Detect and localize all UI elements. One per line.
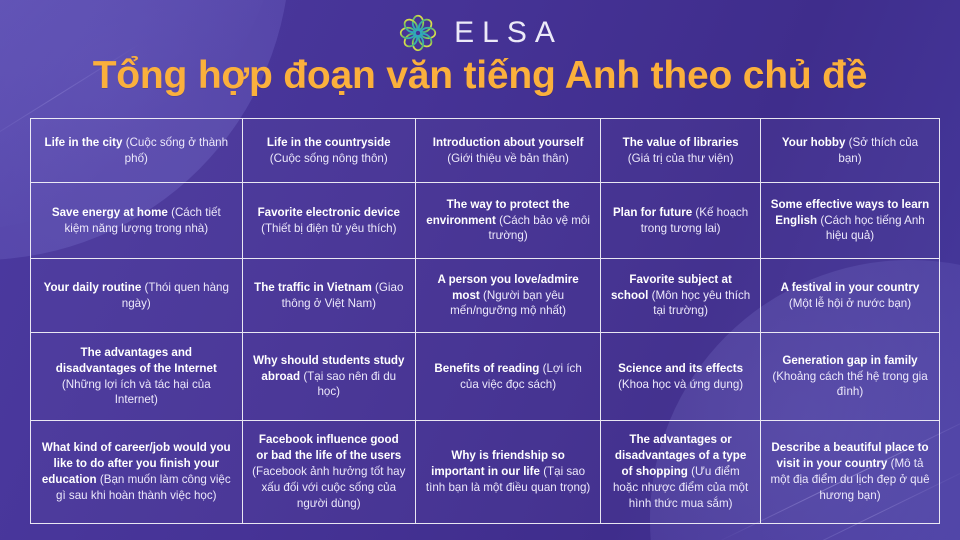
topic-en: Save energy at home [52,206,168,219]
topic-cell[interactable]: Describe a beautiful place to visit in y… [761,421,939,523]
topic-vi: (Khoa học và ứng dụng) [618,378,743,391]
topic-cell[interactable]: Why is friendship so important in our li… [416,421,601,523]
topic-cell[interactable]: A person you love/admire most (Người bạn… [416,259,601,333]
table-row: Your daily routine (Thói quen hàng ngày)… [31,259,939,333]
topic-vi: (Thiết bị điện tử yêu thích) [261,222,396,235]
topic-cell[interactable]: The traffic in Vietnam (Giao thông ở Việ… [243,259,416,333]
topic-cell[interactable]: Science and its effects (Khoa học và ứng… [601,333,761,421]
topic-en: Plan for future [613,206,692,219]
elsa-flower-icon [397,12,439,54]
topic-cell[interactable]: Facebook influence good or bad the life … [243,421,416,523]
topic-cell[interactable]: Benefits of reading (Lợi ích của việc đọ… [416,333,601,421]
topic-cell[interactable]: The value of libraries (Giá trị của thư … [601,119,761,183]
topic-en: Introduction about yourself [433,136,584,149]
topics-table-body: Life in the city (Cuộc sống ở thành phố)… [31,119,939,523]
table-row: What kind of career/job would you like t… [31,421,939,523]
topic-cell[interactable]: The advantages and disadvantages of the … [31,333,243,421]
topic-cell[interactable]: Life in the city (Cuộc sống ở thành phố) [31,119,243,183]
topic-en: Life in the countryside [267,136,391,149]
topic-vi: (Một lễ hội ở nước bạn) [789,297,911,310]
topic-vi: (Tại sao nên đi du học) [303,370,396,399]
topic-cell[interactable]: What kind of career/job would you like t… [31,421,243,523]
topic-cell[interactable]: Your hobby (Sở thích của bạn) [761,119,939,183]
topic-cell[interactable]: Your daily routine (Thói quen hàng ngày) [31,259,243,333]
topic-vi: (Facebook ảnh hưởng tốt hay xấu đối với … [252,465,405,510]
topic-cell[interactable]: Favorite electronic device (Thiết bị điệ… [243,183,416,259]
topic-cell[interactable]: Generation gap in family (Khoảng cách th… [761,333,939,421]
topic-en: A festival in your country [781,281,920,294]
brand-logo-bar: ELSA [0,10,960,56]
topic-en: Science and its effects [618,362,743,375]
page-title: Tổng hợp đoạn văn tiếng Anh theo chủ đề [0,54,960,98]
topic-vi: (Cuộc sống ở thành phố) [125,136,228,165]
topic-cell[interactable]: Save energy at home (Cách tiết kiệm năng… [31,183,243,259]
topic-cell[interactable]: Favorite subject at school (Môn học yêu … [601,259,761,333]
brand-name: ELSA [451,18,563,48]
topic-vi: (Khoảng cách thế hệ trong gia đình) [772,370,927,399]
topic-en: The advantages and disadvantages of the … [56,346,217,375]
topic-en: Your daily routine [44,281,142,294]
topic-cell[interactable]: Why should students study abroad (Tại sa… [243,333,416,421]
topic-vi: (Cách bảo vệ môi trường) [488,214,589,243]
topic-en: Favorite electronic device [258,206,400,219]
table-row: The advantages and disadvantages of the … [31,333,939,421]
topic-en: Benefits of reading [434,362,539,375]
table-row: Save energy at home (Cách tiết kiệm năng… [31,183,939,259]
topic-cell[interactable]: Some effective ways to learn English (Cá… [761,183,939,259]
topic-vi: (Cách học tiếng Anh hiệu quả) [820,214,924,243]
topic-cell[interactable]: A festival in your country (Một lễ hội ở… [761,259,939,333]
topic-cell[interactable]: The way to protect the environment (Cách… [416,183,601,259]
topic-vi: (Sở thích của bạn) [838,136,918,165]
topic-vi: (Cuộc sống nông thôn) [270,152,388,165]
table-row: Life in the city (Cuộc sống ở thành phố)… [31,119,939,183]
topic-en: Life in the city [45,136,123,149]
topic-vi: (Môn học yêu thích tại trường) [652,289,751,318]
topic-en: Generation gap in family [782,354,917,367]
topic-vi: (Những lợi ích và tác hại của Internet) [62,378,211,407]
topic-vi: (Giới thiệu về bản thân) [447,152,569,165]
topic-cell[interactable]: Introduction about yourself (Giới thiệu … [416,119,601,183]
topic-en: Facebook influence good or bad the life … [256,433,401,462]
topic-en: Your hobby [782,136,846,149]
topics-table: Life in the city (Cuộc sống ở thành phố)… [30,118,940,524]
topic-en: The value of libraries [623,136,739,149]
topic-cell[interactable]: Life in the countryside (Cuộc sống nông … [243,119,416,183]
topic-en: The traffic in Vietnam [254,281,372,294]
topic-cell[interactable]: The advantages or disadvantages of a typ… [601,421,761,523]
topic-vi: (Giá trị của thư viện) [628,152,734,165]
slide-canvas: ELSA Tổng hợp đoạn văn tiếng Anh theo ch… [0,0,960,540]
topic-cell[interactable]: Plan for future (Kế hoạch trong tương la… [601,183,761,259]
